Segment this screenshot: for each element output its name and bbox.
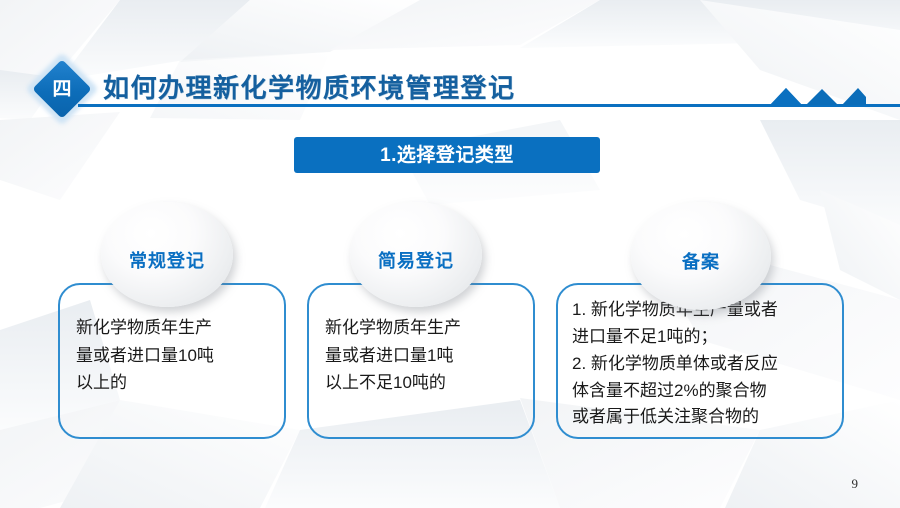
bubble-label: 备案 [682,253,720,271]
slide-canvas: 四 如何办理新化学物质环境管理登记 1.选择登记类型 常规登记 新化学物质年生产… [0,0,900,508]
section-number-badge: 四 [36,63,88,115]
bubble-filing: 备案 [631,202,771,310]
section-number-label: 四 [36,63,88,115]
card-text-line: 体含量不超过2%的聚合物 [572,378,832,405]
card-text-line: 量或者进口量1吨 [325,342,521,370]
section-title-label: 1.选择登记类型 [380,146,514,165]
registration-type-columns: 常规登记 新化学物质年生产 量或者进口量10吨 以上的 简易登记 新化学物质年生… [0,196,900,446]
bubble-label: 常规登记 [129,252,205,270]
card-text: 1. 新化学物质年生产量或者 进口量不足1吨的； 2. 新化学物质单体或者反应 … [572,297,832,431]
card-text-line: 新化学物质年生产 [76,314,272,342]
card-text: 新化学物质年生产 量或者进口量1吨 以上不足10吨的 [325,314,521,397]
page-title: 如何办理新化学物质环境管理登记 [103,68,516,105]
card-text-line: 2. 新化学物质单体或者反应 [572,351,832,378]
bubble-label: 简易登记 [378,252,454,270]
card-text-line: 以上的 [76,369,272,397]
card-text-line: 进口量不足1吨的； [572,324,832,351]
card-text: 新化学物质年生产 量或者进口量10吨 以上的 [76,314,272,397]
card-text-line: 以上不足10吨的 [325,369,521,397]
card-text-line: 或者属于低关注聚合物的 [572,404,832,431]
slide-header: 四 如何办理新化学物质环境管理登记 [0,0,900,120]
page-number: 9 [852,476,859,492]
bubble-simple-registration: 简易登记 [350,202,482,307]
mountain-peaks-icon [748,86,866,105]
bubble-regular-registration: 常规登记 [101,202,233,307]
card-text-line: 量或者进口量10吨 [76,342,272,370]
card-text-line: 新化学物质年生产 [325,314,521,342]
section-title-bar: 1.选择登记类型 [294,137,600,173]
